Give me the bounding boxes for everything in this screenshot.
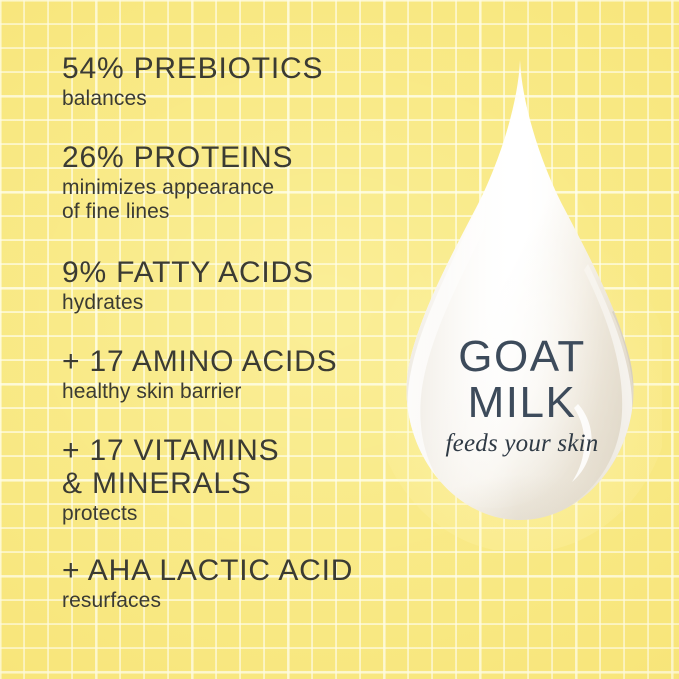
ingredient-headline: + 17 VITAMINS & MINERALS — [62, 434, 279, 500]
list-item: + 17 VITAMINS & MINERALS protects — [62, 434, 279, 526]
ingredient-benefit: balances — [62, 87, 323, 111]
ingredient-headline: 9% FATTY ACIDS — [62, 256, 314, 289]
ingredient-benefit: resurfaces — [62, 589, 353, 613]
list-item: 54% PREBIOTICS balances — [62, 52, 323, 111]
ingredient-benefit: healthy skin barrier — [62, 380, 337, 404]
milk-droplet-illustration — [382, 58, 662, 550]
ingredient-benefit: minimizes appearance of fine lines — [62, 176, 293, 225]
list-item: 26% PROTEINS minimizes appearance of fin… — [62, 141, 293, 225]
ingredient-benefit: hydrates — [62, 291, 314, 315]
list-item: + 17 AMINO ACIDS healthy skin barrier — [62, 345, 337, 404]
list-item: + AHA LACTIC ACID resurfaces — [62, 554, 353, 613]
ingredient-headline: + AHA LACTIC ACID — [62, 554, 353, 587]
ingredient-benefit: protects — [62, 502, 279, 526]
list-item: 9% FATTY ACIDS hydrates — [62, 256, 314, 315]
promo-graphic-canvas: 54% PREBIOTICS balances 26% PROTEINS min… — [0, 0, 679, 679]
ingredient-headline: 54% PREBIOTICS — [62, 52, 323, 85]
ingredient-headline: 26% PROTEINS — [62, 141, 293, 174]
ingredient-headline: + 17 AMINO ACIDS — [62, 345, 337, 378]
